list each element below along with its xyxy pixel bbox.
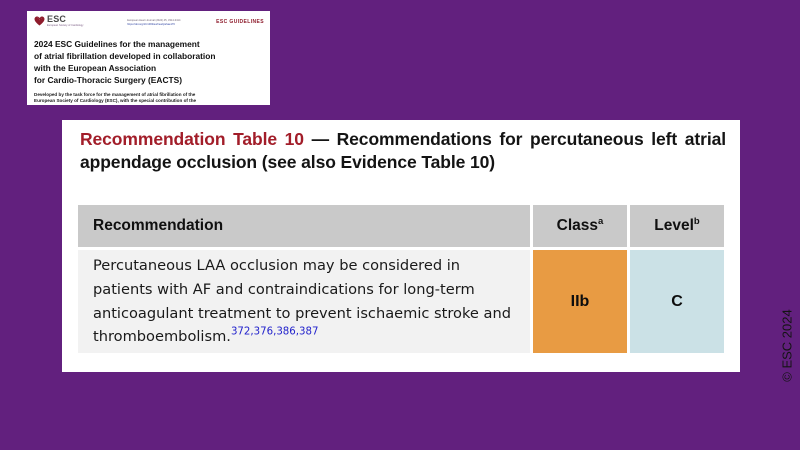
cover-title-line-4: for Cardio-Thoracic Surgery (EACTS) bbox=[34, 75, 264, 87]
recommendation-content-panel: Recommendation Table 10 — Recommendation… bbox=[62, 120, 740, 372]
header-cell-level: Levelb bbox=[630, 205, 724, 247]
journal-citation: European Heart Journal (2024) 45, 3314-3… bbox=[127, 19, 180, 26]
esc-subtitle: European Society of Cardiology bbox=[47, 24, 83, 28]
esc-wordmark: ESC European Society of Cardiology bbox=[47, 15, 83, 28]
esc-guidelines-tag: ESC GUIDELINES bbox=[216, 19, 264, 25]
cover-title-line-2: of atrial fibrillation developed in coll… bbox=[34, 51, 264, 63]
class-grade-value: IIb bbox=[571, 293, 590, 311]
cover-title: 2024 ESC Guidelines for the management o… bbox=[34, 39, 264, 87]
level-grade-value: C bbox=[671, 293, 683, 311]
recommendation-paragraph: Percutaneous LAA occlusion may be consid… bbox=[93, 254, 516, 349]
header-label-class: Classa bbox=[557, 217, 604, 235]
cover-taskforce-note: Developed by the task force for the mana… bbox=[34, 92, 264, 105]
esc-letters: ESC bbox=[47, 15, 83, 24]
recommendation-references: 372,376,386,387 bbox=[231, 327, 319, 338]
taskforce-line-2: European Society of Cardiology (ESC), wi… bbox=[34, 98, 264, 105]
header-cell-recommendation: Recommendation bbox=[78, 205, 530, 247]
esc-heart-logo-icon bbox=[34, 16, 45, 26]
table-header-row: Recommendation Classa Levelb bbox=[78, 205, 729, 247]
copyright-notice: © ESC 2024 bbox=[776, 295, 798, 395]
cover-title-line-3: with the European Association bbox=[34, 63, 264, 75]
cell-class-grade: IIb bbox=[533, 250, 627, 353]
header-label-recommendation: Recommendation bbox=[93, 217, 223, 235]
header-label-level: Levelb bbox=[654, 217, 699, 235]
cover-topbar: ESC European Society of Cardiology Europ… bbox=[34, 15, 264, 37]
recommendation-table: Recommendation Classa Levelb Percutaneou… bbox=[78, 205, 729, 353]
cell-recommendation-text: Percutaneous LAA occlusion may be consid… bbox=[78, 250, 530, 353]
journal-doi-link: https://doi.org/10.1093/eurheartj/ehae17… bbox=[127, 23, 180, 27]
recommendation-table-title: Recommendation Table 10 — Recommendation… bbox=[80, 128, 726, 175]
taskforce-line-1: Developed by the task force for the mana… bbox=[34, 92, 264, 99]
recommendation-table-number: Recommendation Table 10 bbox=[80, 129, 304, 149]
copyright-text: © ESC 2024 bbox=[780, 309, 795, 381]
esc-logo-block: ESC European Society of Cardiology bbox=[34, 15, 83, 28]
guidelines-cover-panel: ESC European Society of Cardiology Europ… bbox=[27, 11, 270, 105]
header-cell-class: Classa bbox=[533, 205, 627, 247]
table-row: Percutaneous LAA occlusion may be consid… bbox=[78, 250, 729, 353]
cover-title-line-1: 2024 ESC Guidelines for the management bbox=[34, 39, 264, 51]
slide-canvas: ESC European Society of Cardiology Europ… bbox=[0, 0, 800, 450]
header-level-superscript: b bbox=[694, 216, 700, 227]
header-class-superscript: a bbox=[598, 216, 603, 227]
cell-level-grade: C bbox=[630, 250, 724, 353]
